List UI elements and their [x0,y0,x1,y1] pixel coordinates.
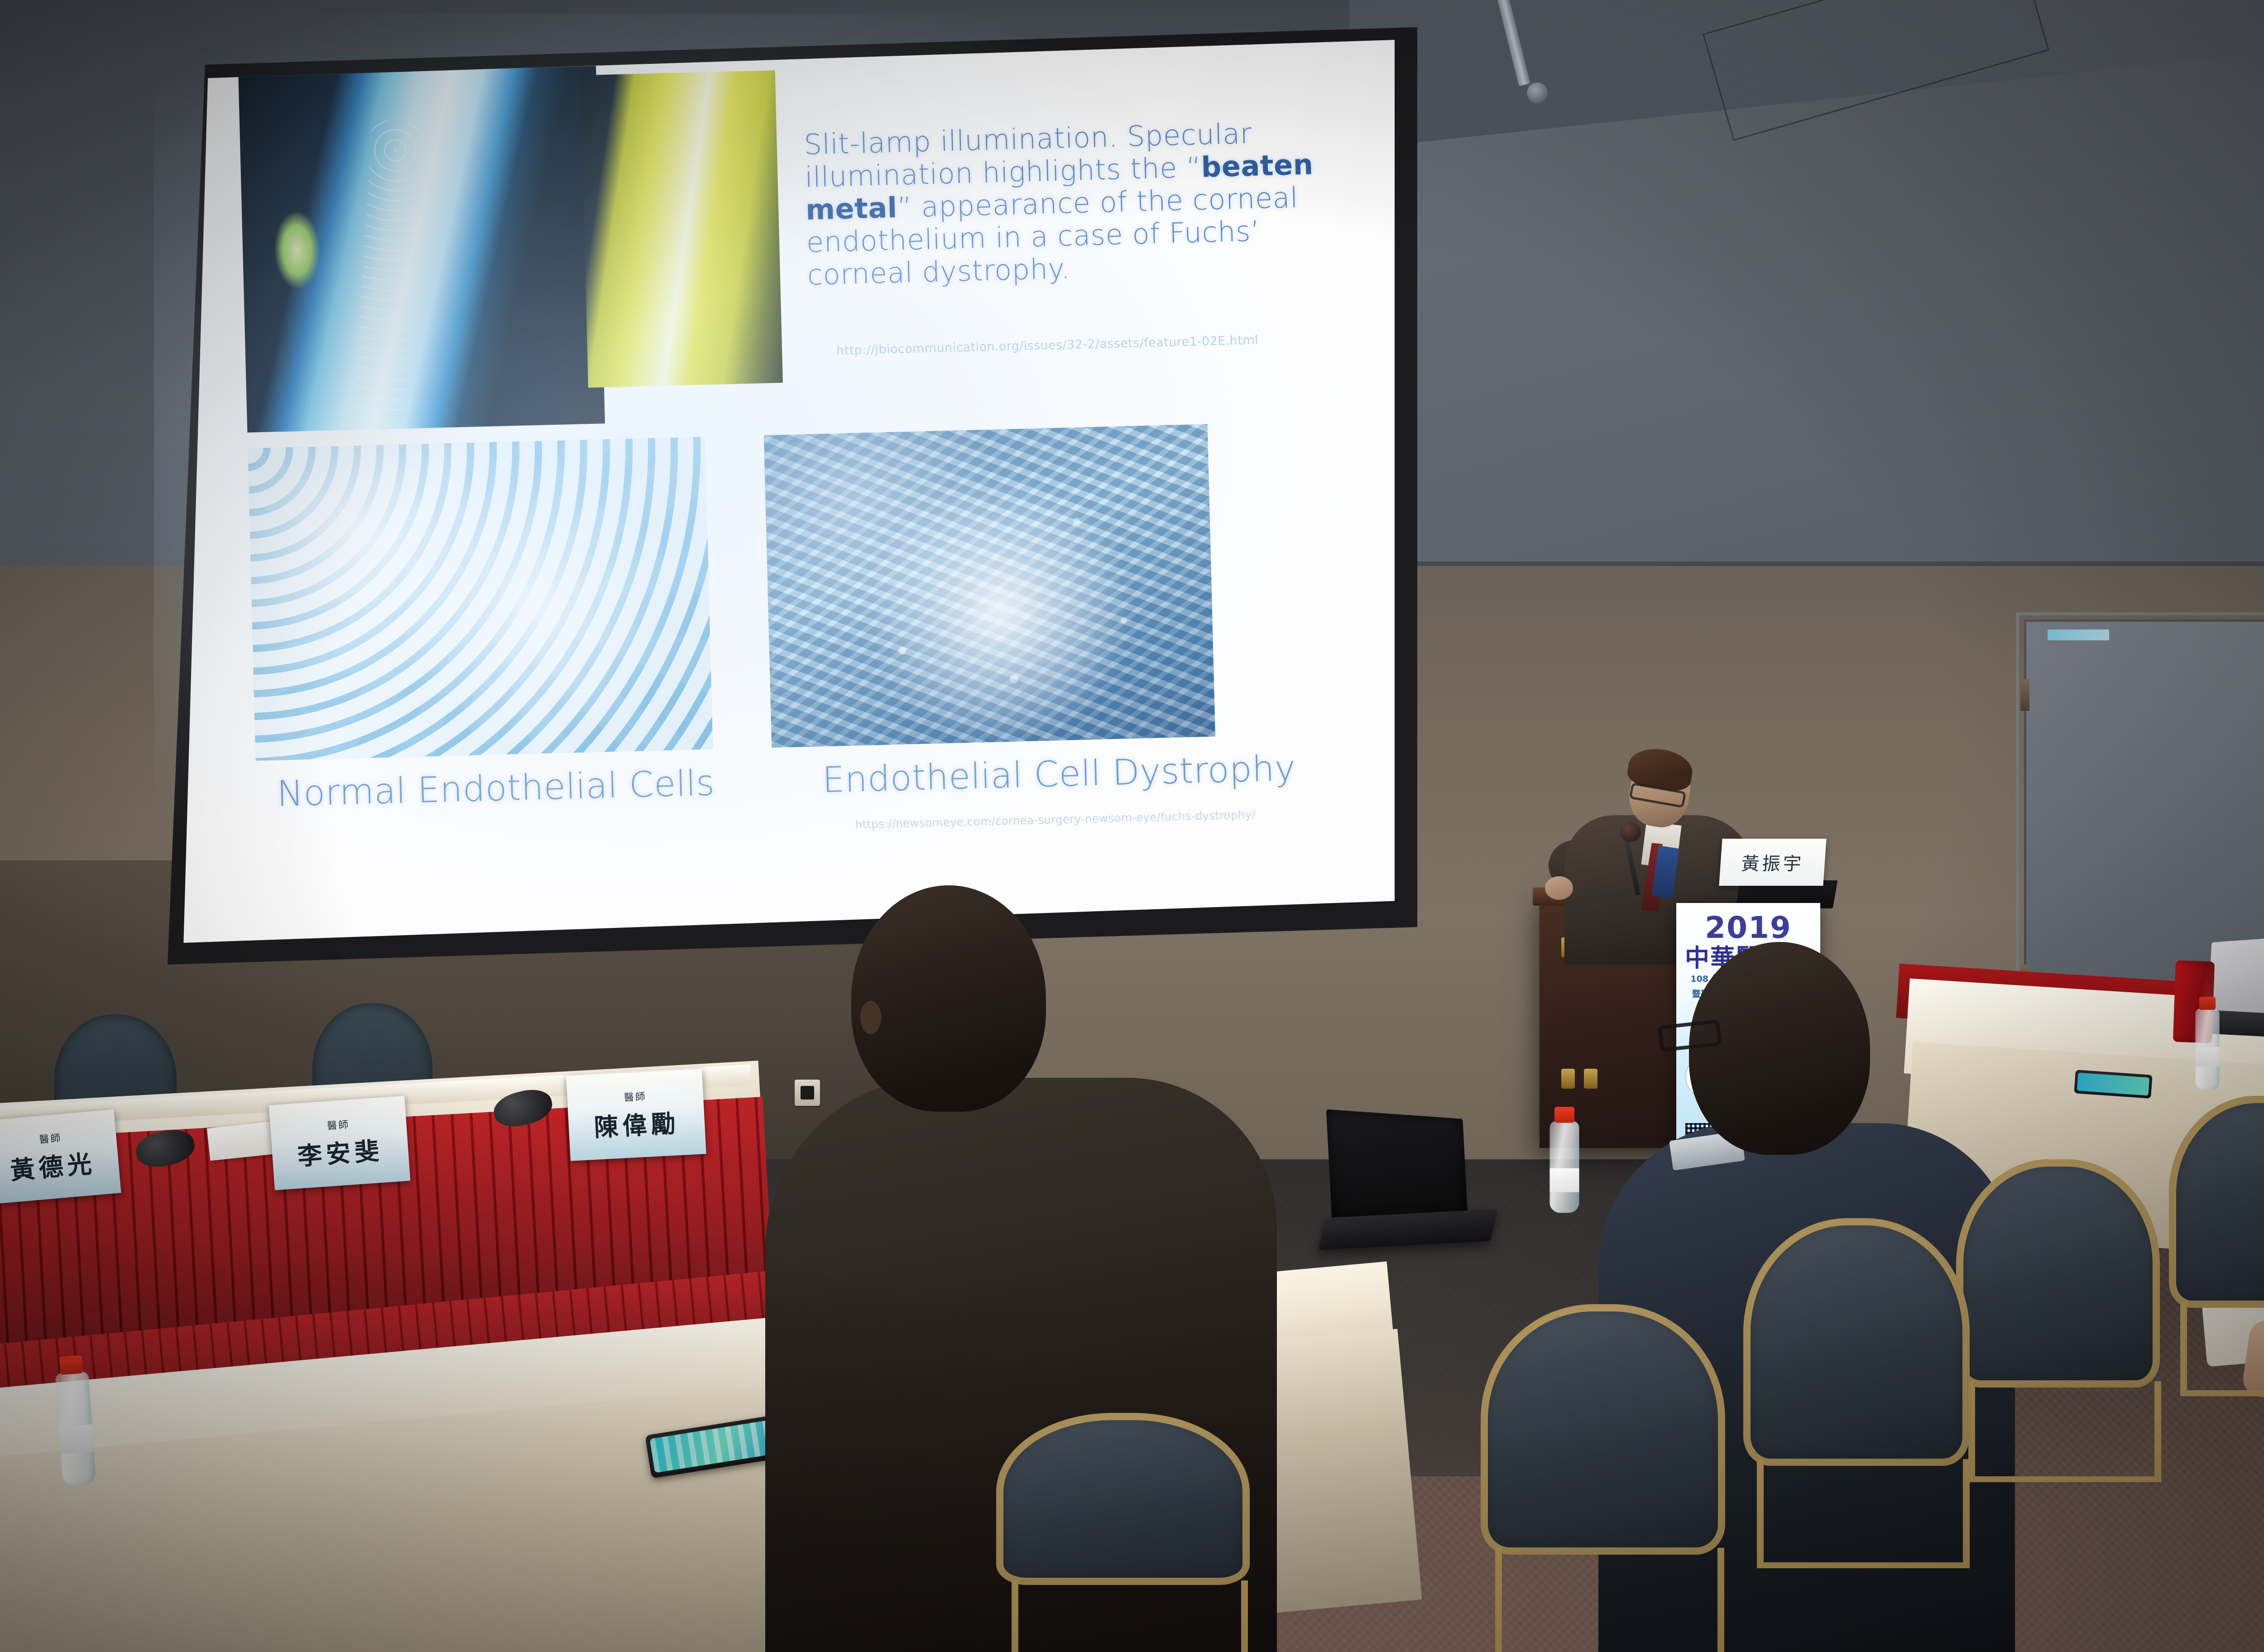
water-bottle [2195,1008,2219,1090]
door-sign [2048,629,2109,640]
slit-lamp-corneal-section-photo [238,66,605,432]
conference-room-photo: Slit-lamp illumination. Specular illumin… [0,0,2264,1652]
nameplate-name: 黃德光 [9,1143,97,1186]
banquet-chair[interactable] [1481,1304,1725,1652]
nameplate: 醫師 陳偉勵 [566,1069,706,1161]
speaker-nameplate: 黃振宇 [1719,839,1826,886]
sprinkler-head-icon [1527,82,1548,103]
wall-outlet [795,1080,820,1106]
fluorescein-yellow-cornea-photo [580,70,783,388]
bottle-cap [1554,1107,1574,1123]
bottle-label [2195,1047,2219,1066]
bottle-cap [2199,997,2216,1010]
nameplate-role: 醫師 [624,1088,647,1104]
bottle-cap [59,1355,83,1375]
microphone-icon[interactable] [1620,822,1641,842]
water-bottle [1549,1121,1579,1213]
bottle-label [59,1424,94,1454]
slide-text-part1: Slit-lamp illumination. Specular illumin… [804,117,1252,194]
lectern-trim [1584,1069,1597,1089]
normal-endothelium-micrograph [248,437,713,761]
caption-source: https://newsomeye.com/cornea-surgery-new… [855,808,1256,831]
nameplate-role: 醫師 [38,1130,62,1146]
nameplate: 醫師 黃德光 [0,1109,121,1205]
speaker-hand [1545,876,1573,900]
audience-head [1689,942,1870,1155]
nameplate-name: 陳偉勵 [593,1103,681,1143]
audience-head [851,885,1046,1112]
caption-dystrophy: Endothelial Cell Dystrophy [822,748,1296,801]
banner-year: 2019 [1676,913,1820,943]
lectern-trim [1561,1069,1575,1089]
nameplate-name: 李安斐 [296,1130,384,1172]
dystrophic-endothelium-micrograph [764,424,1215,748]
nameplate: 醫師 李安斐 [269,1096,410,1190]
caption-normal-cells: Normal Endothelial Cells [276,763,715,814]
slide-body-text: Slit-lamp illumination. Specular illumin… [804,115,1333,292]
guttae-sparkle-overlay [354,120,422,412]
door-hinge-upper [2020,679,2029,711]
banquet-chair[interactable] [2169,1096,2264,1390]
banquet-chair[interactable] [1743,1218,1970,1562]
audience-ear [860,1001,881,1034]
banquet-chair[interactable] [996,1413,1250,1652]
screen-surface: Slit-lamp illumination. Specular illumin… [181,36,1395,946]
nameplate-role: 醫師 [326,1116,350,1132]
bottle-label [1549,1168,1579,1192]
banquet-chair[interactable] [1956,1159,2160,1476]
slide-body-source: http://jbiocommunication.org/issues/32-2… [836,330,1344,359]
projection-screen: Slit-lamp illumination. Specular illumin… [181,36,1395,946]
presentation-slide: Slit-lamp illumination. Specular illumin… [170,21,1406,961]
